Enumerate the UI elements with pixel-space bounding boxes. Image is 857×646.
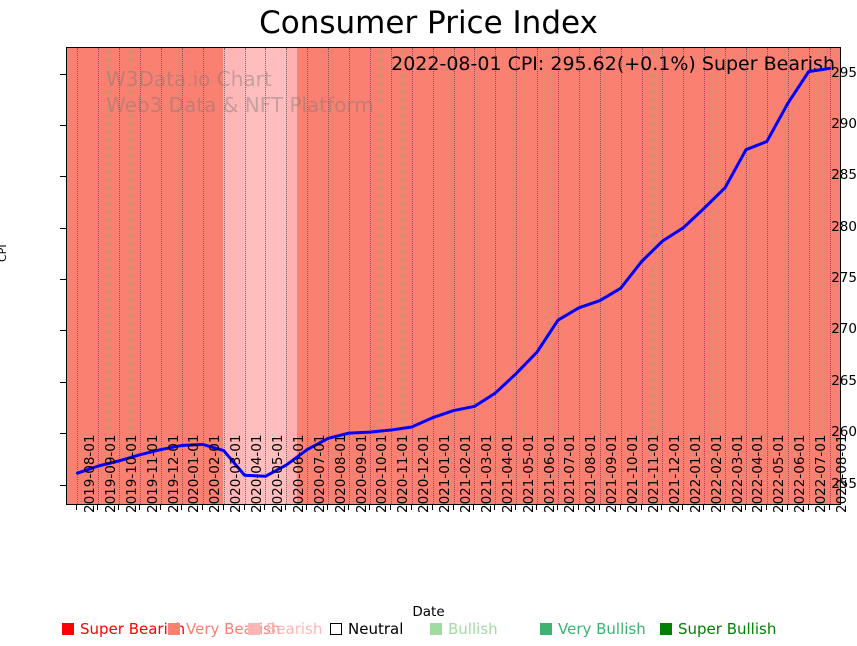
x-tick-label: 2020-01-01 — [186, 435, 202, 513]
x-tick-label: 2021-07-01 — [562, 435, 578, 513]
x-tick-mark — [285, 504, 286, 510]
x-tick-label: 2021-09-01 — [604, 435, 620, 513]
x-tick-label: 2020-11-01 — [395, 435, 411, 513]
y-tick-mark — [60, 74, 66, 75]
x-tick-mark — [453, 504, 454, 510]
x-tick-mark — [264, 504, 265, 510]
legend-item-super-bullish[interactable]: Super Bullish — [660, 620, 776, 638]
y-tick-mark — [60, 228, 66, 229]
legend-swatch-icon — [330, 623, 342, 635]
x-tick-mark — [808, 504, 809, 510]
y-tick-mark — [60, 176, 66, 177]
y-tick-mark — [60, 279, 66, 280]
x-tick-label: 2020-08-01 — [333, 435, 349, 513]
x-axis-label: Date — [0, 604, 857, 620]
x-tick-mark — [432, 504, 433, 510]
x-tick-mark — [327, 504, 328, 510]
x-tick-mark — [348, 504, 349, 510]
x-tick-label: 2021-03-01 — [479, 435, 495, 513]
y-tick-mark — [60, 433, 66, 434]
y-tick-mark — [60, 485, 66, 486]
x-tick-label: 2021-06-01 — [542, 435, 558, 513]
legend-item-bullish[interactable]: Bullish — [430, 620, 498, 638]
x-tick-mark — [557, 504, 558, 510]
x-tick-mark — [829, 504, 830, 510]
x-tick-label: 2019-09-01 — [103, 435, 119, 513]
x-tick-mark — [139, 504, 140, 510]
legend-label: Super Bullish — [678, 620, 776, 638]
x-tick-label: 2020-07-01 — [312, 435, 328, 513]
y-tick-mark — [60, 125, 66, 126]
legend: Super BearishVery BearishBearishNeutralB… — [0, 620, 857, 642]
y-tick-label: 295 — [811, 65, 857, 81]
x-tick-mark — [703, 504, 704, 510]
y-tick-label: 275 — [811, 270, 857, 286]
x-tick-label: 2020-02-01 — [207, 435, 223, 513]
x-tick-label: 2021-12-01 — [667, 435, 683, 513]
legend-item-bearish[interactable]: Bearish — [248, 620, 322, 638]
legend-swatch-icon — [62, 623, 74, 635]
x-tick-mark — [787, 504, 788, 510]
x-tick-label: 2020-12-01 — [416, 435, 432, 513]
legend-swatch-icon — [430, 623, 442, 635]
y-tick-mark — [60, 330, 66, 331]
x-tick-mark — [620, 504, 621, 510]
legend-label: Neutral — [348, 620, 403, 638]
x-tick-label: 2019-08-01 — [82, 435, 98, 513]
x-tick-label: 2019-10-01 — [124, 435, 140, 513]
x-tick-label: 2022-02-01 — [709, 435, 725, 513]
x-tick-mark — [181, 504, 182, 510]
x-tick-mark — [641, 504, 642, 510]
y-tick-label: 290 — [811, 116, 857, 132]
x-tick-label: 2022-07-01 — [813, 435, 829, 513]
x-tick-label: 2020-09-01 — [354, 435, 370, 513]
x-tick-mark — [473, 504, 474, 510]
legend-label: Bullish — [448, 620, 498, 638]
x-tick-mark — [682, 504, 683, 510]
x-tick-mark — [202, 504, 203, 510]
x-tick-label: 2020-04-01 — [249, 435, 265, 513]
legend-swatch-icon — [660, 623, 672, 635]
x-tick-label: 2020-10-01 — [374, 435, 390, 513]
x-tick-mark — [97, 504, 98, 510]
x-tick-label: 2021-02-01 — [458, 435, 474, 513]
x-tick-label: 2022-05-01 — [771, 435, 787, 513]
x-tick-label: 2022-08-01 — [834, 435, 850, 513]
page-title: Consumer Price Index — [0, 4, 857, 42]
x-tick-mark — [515, 504, 516, 510]
legend-swatch-icon — [540, 623, 552, 635]
x-tick-label: 2021-11-01 — [646, 435, 662, 513]
legend-item-neutral[interactable]: Neutral — [330, 620, 403, 638]
x-tick-mark — [766, 504, 767, 510]
x-tick-label: 2021-08-01 — [583, 435, 599, 513]
y-axis-label: CPI — [0, 244, 9, 262]
y-tick-label: 270 — [811, 321, 857, 337]
x-tick-mark — [411, 504, 412, 510]
y-tick-label: 285 — [811, 167, 857, 183]
x-tick-mark — [76, 504, 77, 510]
x-tick-mark — [578, 504, 579, 510]
y-tick-label: 280 — [811, 219, 857, 235]
x-tick-mark — [244, 504, 245, 510]
x-tick-mark — [118, 504, 119, 510]
y-tick-label: 265 — [811, 373, 857, 389]
x-tick-mark — [724, 504, 725, 510]
x-tick-label: 2022-06-01 — [792, 435, 808, 513]
x-tick-mark — [306, 504, 307, 510]
legend-label: Bearish — [266, 620, 322, 638]
y-tick-mark — [60, 382, 66, 383]
x-tick-label: 2021-01-01 — [437, 435, 453, 513]
x-tick-label: 2021-04-01 — [500, 435, 516, 513]
chart-figure: Consumer Price Index W3Data.io Chart Web… — [0, 0, 857, 646]
x-tick-label: 2020-03-01 — [228, 435, 244, 513]
x-tick-mark — [536, 504, 537, 510]
legend-item-very-bullish[interactable]: Very Bullish — [540, 620, 646, 638]
x-tick-label: 2021-05-01 — [521, 435, 537, 513]
x-tick-label: 2020-05-01 — [270, 435, 286, 513]
x-tick-mark — [494, 504, 495, 510]
cpi-polyline — [77, 68, 829, 476]
x-tick-mark — [599, 504, 600, 510]
x-tick-label: 2022-01-01 — [688, 435, 704, 513]
x-tick-mark — [661, 504, 662, 510]
x-tick-label: 2019-11-01 — [145, 435, 161, 513]
legend-item-super-bearish[interactable]: Super Bearish — [62, 620, 185, 638]
x-tick-label: 2019-12-01 — [166, 435, 182, 513]
legend-swatch-icon — [248, 623, 260, 635]
x-tick-label: 2021-10-01 — [625, 435, 641, 513]
x-tick-mark — [369, 504, 370, 510]
legend-swatch-icon — [168, 623, 180, 635]
legend-label: Very Bullish — [558, 620, 646, 638]
x-tick-mark — [160, 504, 161, 510]
x-tick-label: 2022-03-01 — [730, 435, 746, 513]
x-tick-mark — [223, 504, 224, 510]
x-tick-mark — [390, 504, 391, 510]
x-tick-label: 2020-06-01 — [291, 435, 307, 513]
x-tick-mark — [745, 504, 746, 510]
x-tick-label: 2022-04-01 — [750, 435, 766, 513]
